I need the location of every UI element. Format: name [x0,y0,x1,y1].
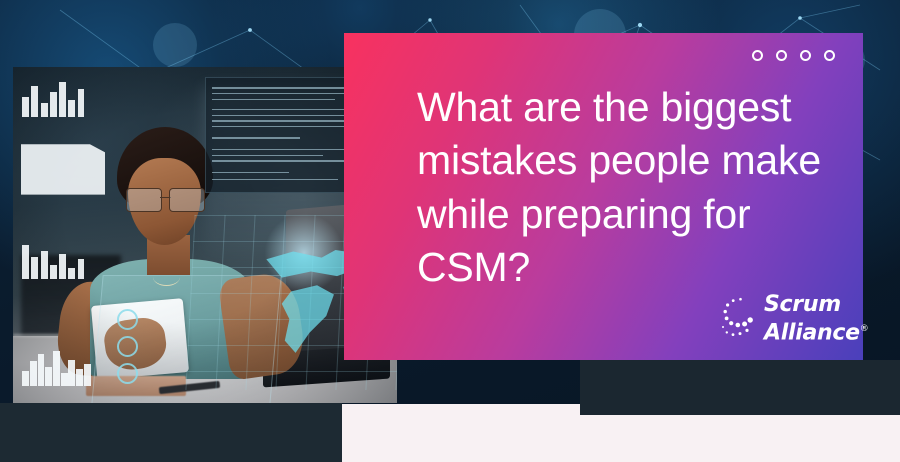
dark-accent-panel-left [0,403,342,462]
hero-photo [13,67,397,403]
scrum-alliance-wordmark: Scrum Alliance® [764,292,868,345]
banner-canvas: What are the biggest mistakes people mak… [0,0,900,462]
dark-accent-panel-right [580,360,900,415]
decor-dot-3-icon [800,50,811,61]
scrum-alliance-logo[interactable]: Scrum Alliance® [720,292,852,348]
logo-line-alliance: Alliance [764,320,860,345]
decor-dot-1-icon [752,50,763,61]
registered-mark: ® [860,324,869,334]
logo-line-alliance-wrap: Alliance® [764,317,868,345]
hero-headline: What are the biggest mistakes people mak… [417,81,863,294]
scrum-alliance-spiral-icon [720,296,764,342]
photo-scene [13,67,397,403]
decor-dot-4-icon [824,50,835,61]
decor-dots-group [752,50,835,61]
decor-dot-2-icon [776,50,787,61]
photo-vignette [13,67,397,403]
logo-line-scrum: Scrum [764,292,868,317]
